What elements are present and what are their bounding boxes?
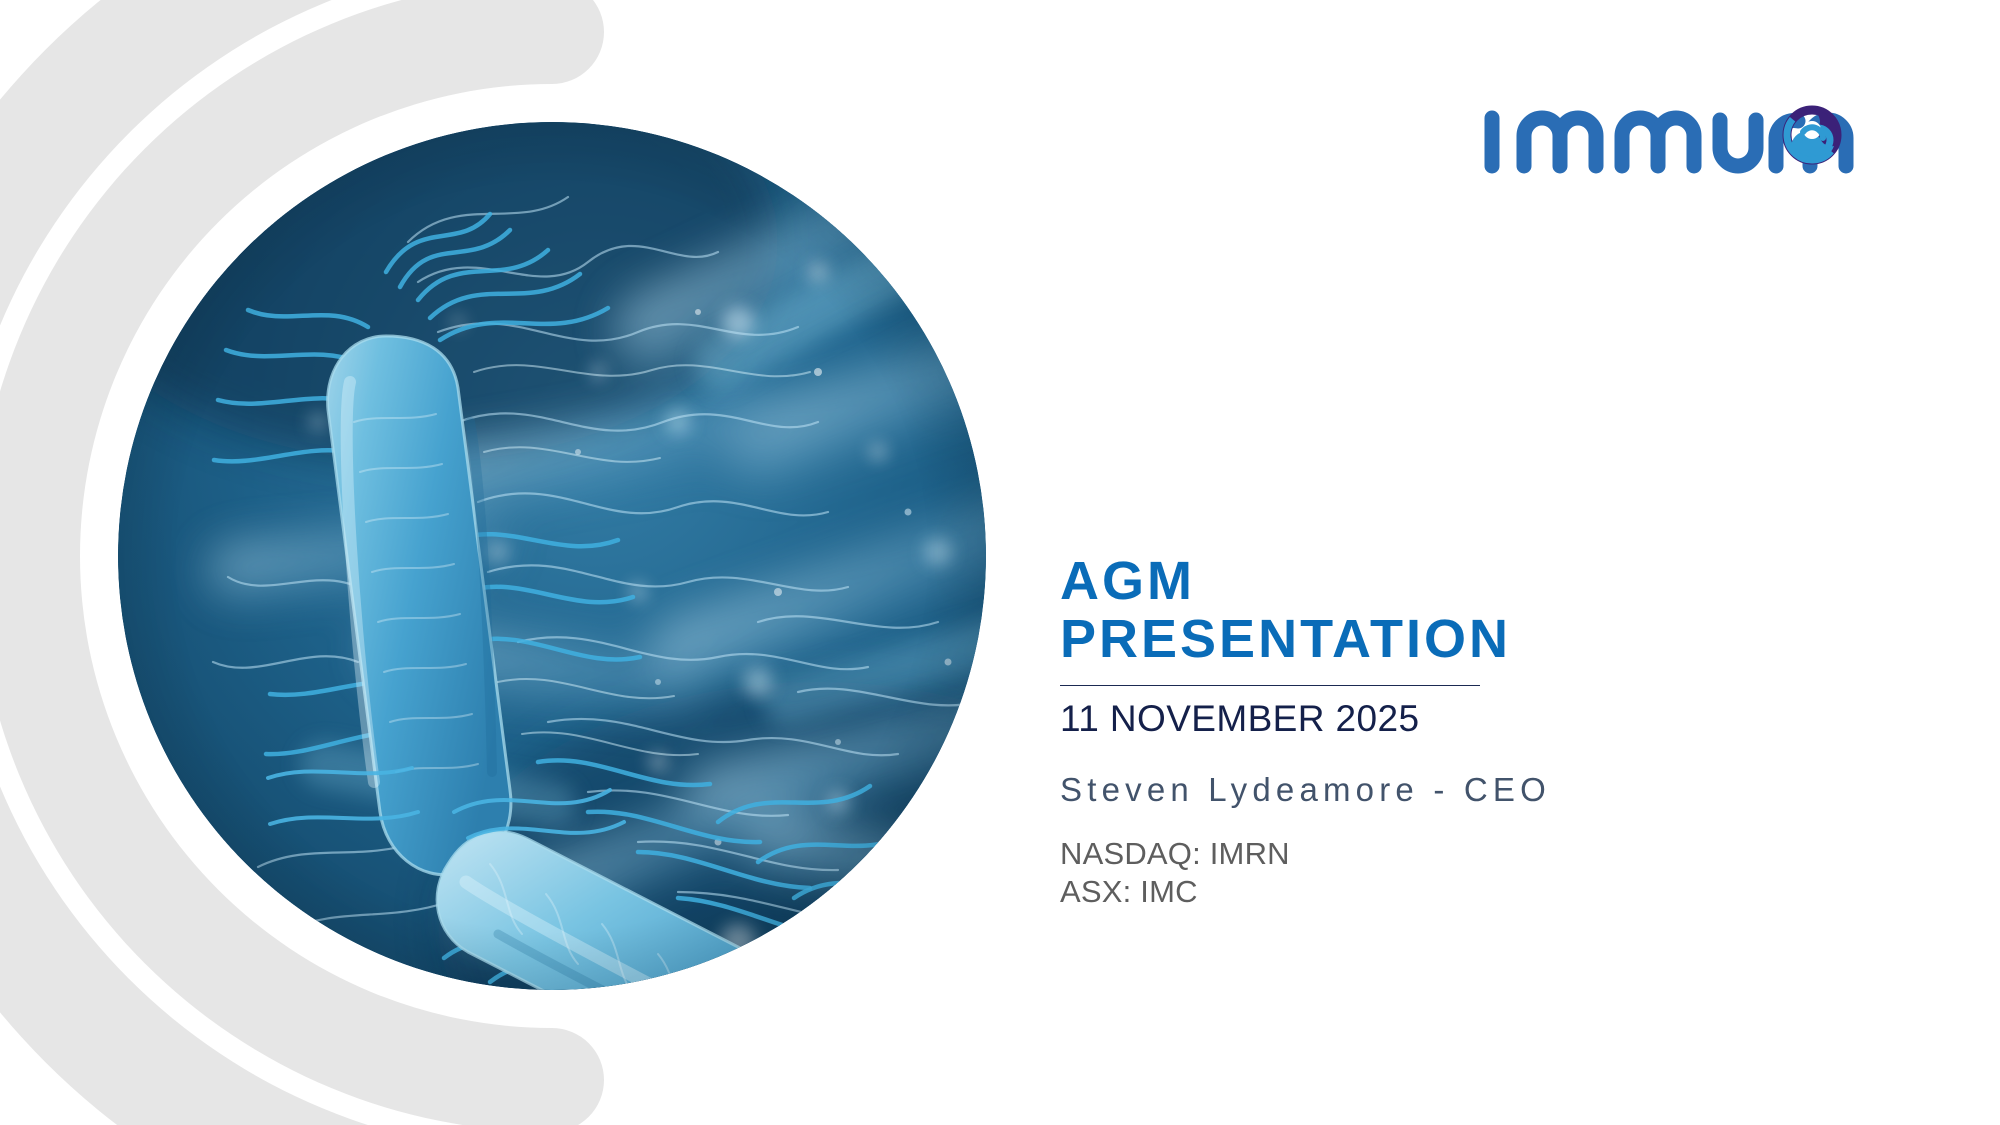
logo-swirl-icon [1777,100,1847,170]
title-divider [1060,685,1480,686]
title-slide: AGM PRESENTATION 11 NOVEMBER 2025 Steven… [0,0,2000,1125]
ticker-list: NASDAQ: IMRN ASX: IMC [1060,835,1820,909]
ticker-asx: ASX: IMC [1060,873,1820,910]
immuron-logo [1482,88,1882,180]
page-title-line2: PRESENTATION [1060,610,1820,668]
presentation-date: 11 NOVEMBER 2025 [1060,696,1820,742]
ticker-nasdaq: NASDAQ: IMRN [1060,835,1820,872]
presenter-name: Steven Lydeamore - CEO [1060,770,1820,810]
page-title-line1: AGM [1060,552,1820,610]
title-text-block: AGM PRESENTATION 11 NOVEMBER 2025 Steven… [1060,552,1820,910]
bacteria-photo [118,122,986,990]
